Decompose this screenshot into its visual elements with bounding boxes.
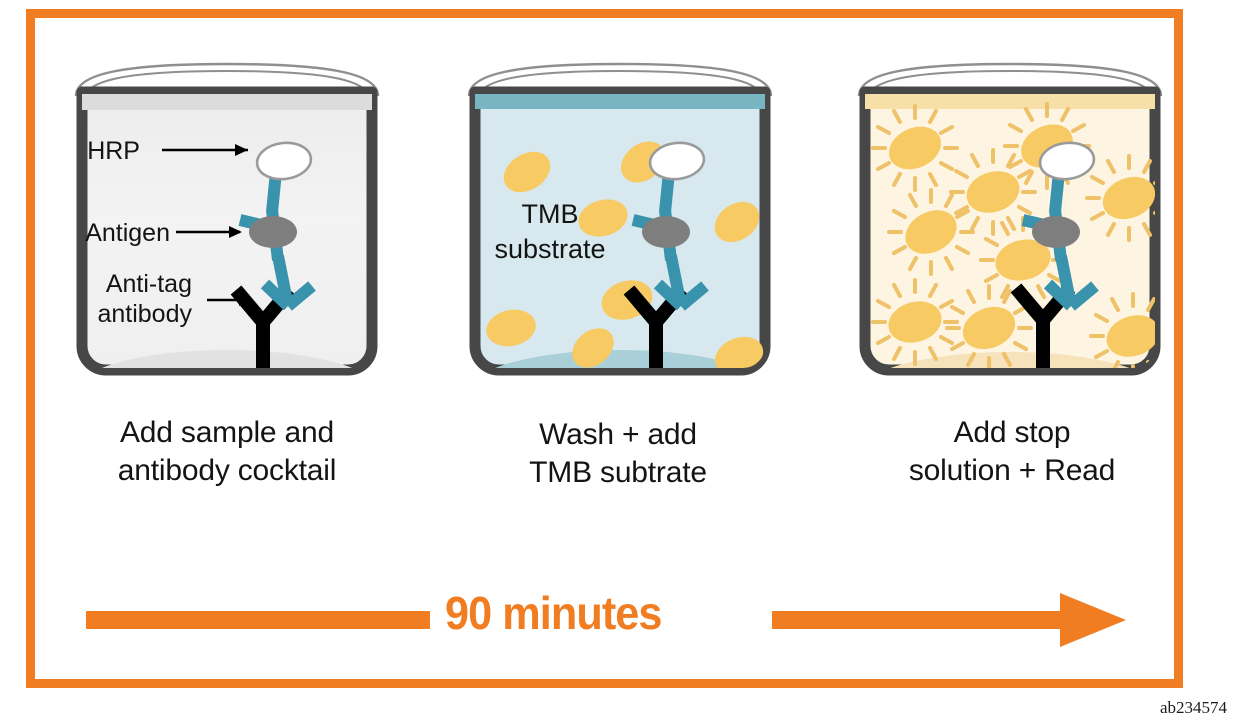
elisa-workflow-figure: HRP Antigen Anti-tag antibody [0,0,1234,720]
caption-line: TMB subtrate [438,454,798,492]
label-hrp: HRP [87,137,140,165]
product-code: ab234574 [1160,698,1227,718]
caption-line: Add stop [832,414,1192,452]
panel-1-caption: Add sample and antibody cocktail [47,414,407,490]
assay-well-panel-1: HRP Antigen Anti-tag antibody [62,60,392,390]
antigen-icon [1032,216,1080,248]
timeline-label: 90 minutes [445,586,661,640]
liquid-surface-band [82,92,372,110]
label-tmb-line2: substrate [494,234,605,264]
caption-line: Add sample and [47,414,407,452]
caption-line: Wash + add [438,416,798,454]
label-tmb-line1: TMB [522,199,579,229]
panel-3-caption: Add stop solution + Read [832,414,1192,490]
label-anti-tag-line2: antibody [97,300,192,328]
assay-well-panel-3 [845,60,1175,390]
antigen-icon [249,216,297,248]
timeline-bar-left [86,611,430,629]
caption-line: antibody cocktail [47,452,407,490]
panel-2-caption: Wash + add TMB subtrate [438,416,798,492]
label-anti-tag-line1: Anti-tag [106,270,192,298]
timeline-bar-right [772,611,1072,629]
assay-well-panel-2: TMB substrate [455,60,785,390]
label-antigen: Antigen [85,219,170,247]
caption-line: solution + Read [832,452,1192,490]
timeline-arrow-head [1060,593,1126,647]
antigen-icon [642,216,690,248]
